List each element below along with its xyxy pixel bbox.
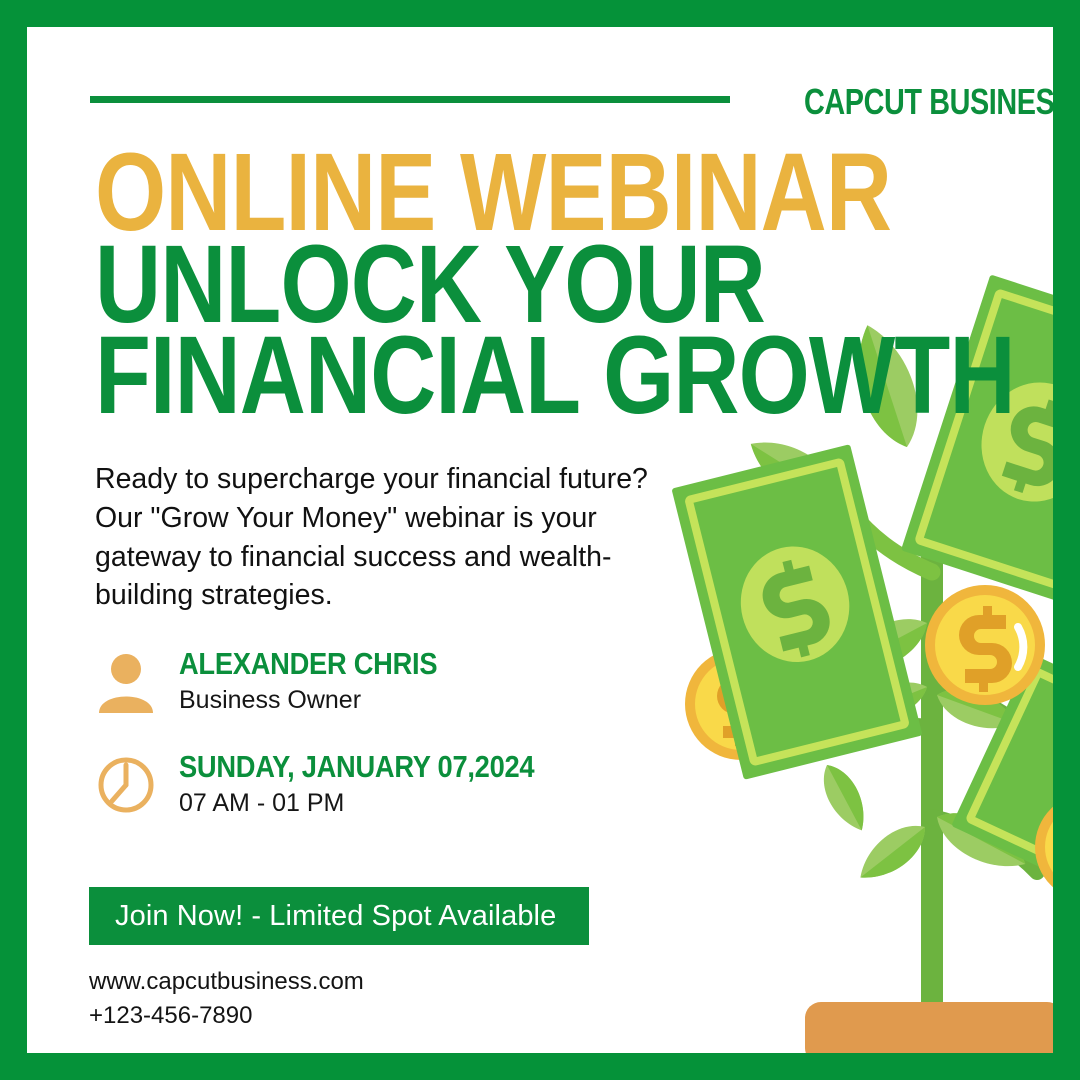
poster-card: CAPCUT BUSINESS ONLINE WEBINAR UNLOCK YO…: [27, 27, 1053, 1053]
speaker-name: ALEXANDER CHRIS: [179, 647, 437, 682]
header-rule-icon: [90, 96, 730, 103]
coin-center: [925, 585, 1045, 705]
poster-root: CAPCUT BUSINESS ONLINE WEBINAR UNLOCK YO…: [0, 0, 1080, 1080]
person-icon: [95, 651, 157, 713]
event-date: SUNDAY, JANUARY 07,2024: [179, 750, 534, 785]
headline-line-3: FINANCIAL GROWTH: [95, 328, 746, 425]
coin-left: [685, 648, 797, 760]
speaker-info: ALEXANDER CHRIS Business Owner: [95, 647, 472, 716]
phone-number[interactable]: +123-456-7890: [89, 999, 364, 1033]
website-link[interactable]: www.capcutbusiness.com: [89, 965, 364, 999]
brand-logo: CAPCUT BUSINESS: [804, 81, 1012, 123]
schedule-info: SUNDAY, JANUARY 07,2024 07 AM - 01 PM: [95, 750, 583, 819]
flower-pot: [805, 1002, 1053, 1053]
event-time: 07 AM - 01 PM: [179, 787, 583, 820]
join-now-button[interactable]: Join Now! - Limited Spot Available: [89, 887, 589, 945]
contact-info: www.capcutbusiness.com +123-456-7890: [89, 965, 364, 1033]
description-text: Ready to supercharge your financial futu…: [95, 460, 670, 615]
page-title: ONLINE WEBINAR UNLOCK YOUR FINANCIAL GRO…: [95, 145, 835, 420]
plant-stem: [817, 447, 1039, 1017]
banknote-bottom-right: [951, 654, 1053, 911]
banknote-left: [671, 444, 922, 780]
coin-bottom-right: [1035, 793, 1053, 901]
clock-icon: [95, 754, 157, 816]
speaker-role: Business Owner: [179, 684, 472, 717]
